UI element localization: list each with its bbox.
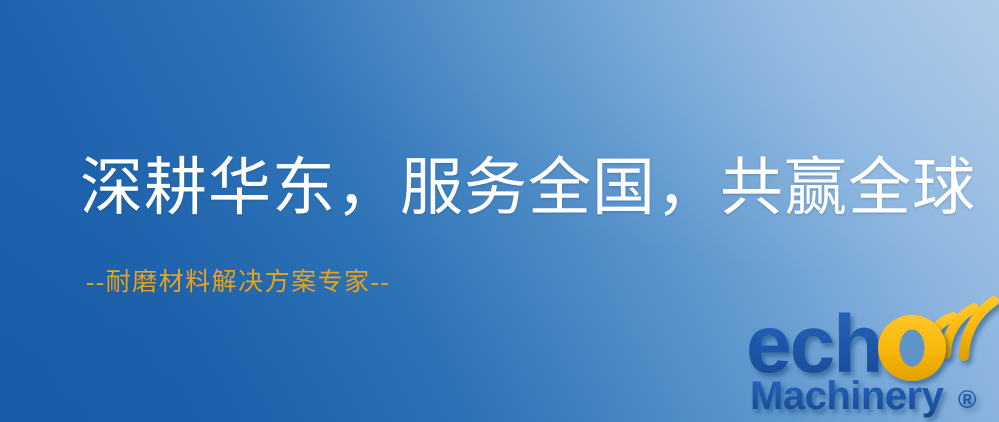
banner-headline: 深耕华东，服务全国，共赢全球	[80, 152, 976, 224]
logo-gold-o-inner	[900, 330, 925, 367]
banner-subtitle: --耐磨材料解决方案专家--	[86, 268, 390, 298]
echo-machinery-logo: ech Machinery ®	[740, 292, 999, 422]
promotional-banner: 深耕华东，服务全国，共赢全球 --耐磨材料解决方案专家--	[0, 0, 999, 422]
logo-subtext-machinery: Machinery	[750, 374, 945, 418]
logo-registered-icon: ®	[958, 386, 977, 414]
